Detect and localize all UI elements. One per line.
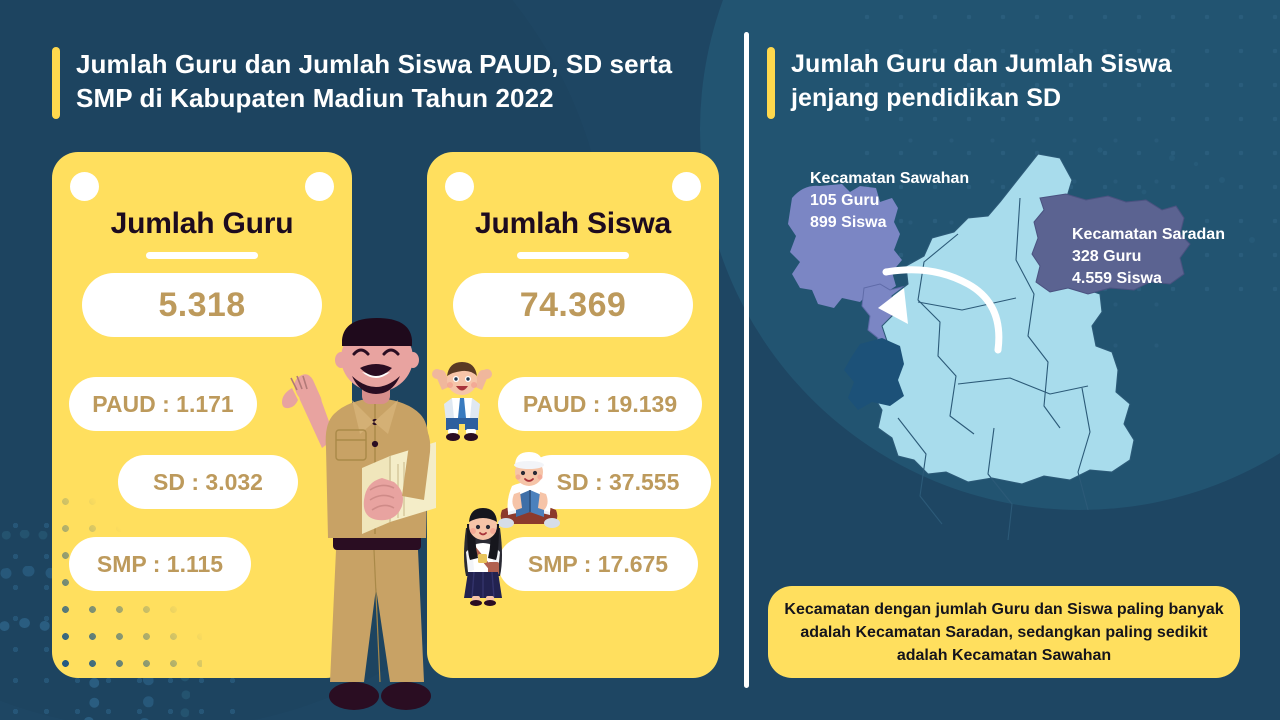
- right-panel-title: Jumlah Guru dan Jumlah Siswa jenjang pen…: [767, 47, 1237, 119]
- panel-divider: [744, 32, 749, 688]
- left-panel-title-text: Jumlah Guru dan Jumlah Siswa PAUD, SD se…: [76, 47, 712, 115]
- title-accent-bar: [52, 47, 60, 119]
- title-accent-bar: [767, 47, 775, 119]
- map-label-saradan-students: 4.559 Siswa: [1072, 268, 1225, 290]
- right-panel-title-text: Jumlah Guru dan Jumlah Siswa jenjang pen…: [791, 47, 1237, 115]
- punch-hole-right-icon: [672, 172, 701, 201]
- stat-pill-paud: PAUD : 19.139: [498, 377, 702, 431]
- punch-hole-left-icon: [70, 172, 99, 201]
- stat-pill-sd: SD : 3.032: [118, 455, 298, 509]
- map-label-sawahan: Kecamatan Sawahan 105 Guru 899 Siswa: [810, 168, 969, 234]
- student-cheering-illustration: [430, 358, 494, 442]
- map-label-saradan-name: Kecamatan Saradan: [1072, 224, 1225, 246]
- punch-hole-left-icon: [445, 172, 474, 201]
- map-caption-box: Kecamatan dengan jumlah Guru dan Siswa p…: [768, 586, 1240, 678]
- map-region-dark: [844, 338, 904, 410]
- card-underline: [146, 252, 258, 259]
- stat-pill-smp: SMP : 17.675: [498, 537, 698, 591]
- infographic-canvas: Jumlah Guru dan Jumlah Siswa PAUD, SD se…: [0, 0, 1280, 720]
- map-label-saradan: Kecamatan Saradan 328 Guru 4.559 Siswa: [1072, 224, 1225, 290]
- student-girl-illustration: [452, 506, 514, 606]
- card-title: Jumlah Guru: [52, 207, 352, 241]
- card-title: Jumlah Siswa: [427, 207, 719, 241]
- map-panel: Kecamatan Sawahan 105 Guru 899 Siswa Kec…: [752, 140, 1268, 570]
- map-label-sawahan-students: 899 Siswa: [810, 212, 969, 234]
- map-label-sawahan-teachers: 105 Guru: [810, 190, 969, 212]
- map-caption-text: Kecamatan dengan jumlah Guru dan Siswa p…: [784, 598, 1224, 667]
- stat-pill-paud: PAUD : 1.171: [69, 377, 257, 431]
- left-panel-title: Jumlah Guru dan Jumlah Siswa PAUD, SD se…: [52, 47, 712, 119]
- map-label-saradan-teachers: 328 Guru: [1072, 246, 1225, 268]
- map-label-sawahan-name: Kecamatan Sawahan: [810, 168, 969, 190]
- stat-pill-smp: SMP : 1.115: [69, 537, 251, 591]
- punch-hole-right-icon: [305, 172, 334, 201]
- card-underline: [517, 252, 629, 259]
- card-total-value: 74.369: [453, 273, 693, 337]
